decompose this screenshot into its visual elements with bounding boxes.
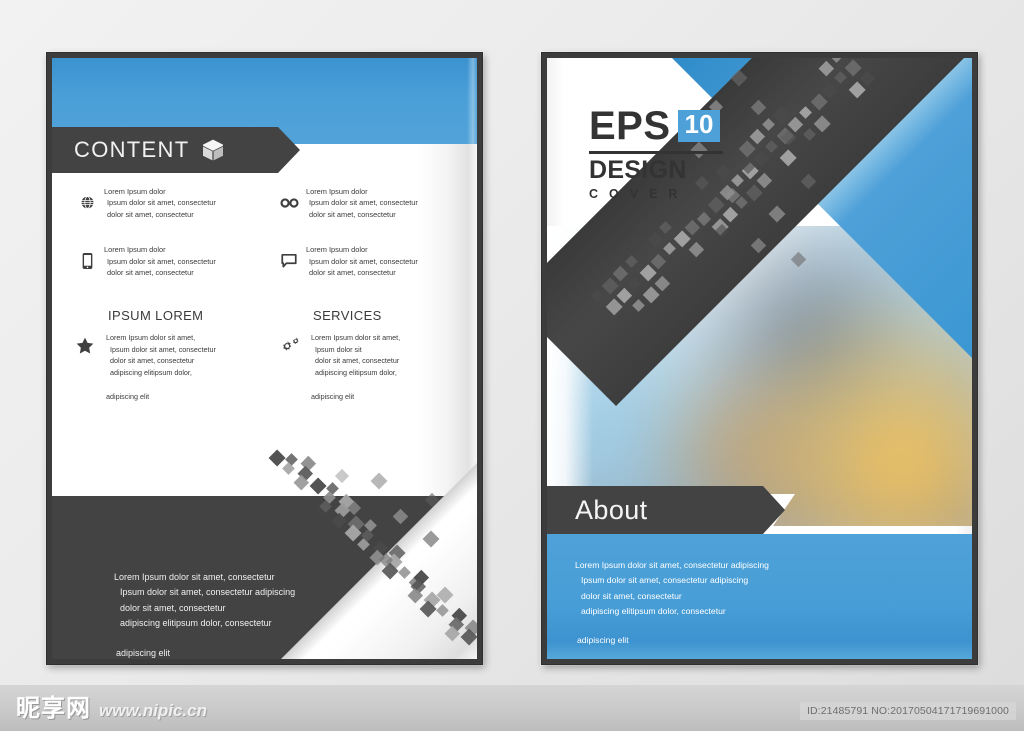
watermark-logo: 昵享网 www.nipic.cn	[16, 688, 207, 723]
section-line: dolor sit amet, consectetur	[110, 355, 216, 367]
footer-tail: adipiscing elit	[577, 633, 881, 648]
feature-text: Lorem Ipsum dolor Ipsum dolor sit amet, …	[107, 186, 216, 220]
section-block: IPSUM LOREM Lorem Ipsum dolor sit amet, …	[70, 308, 269, 402]
brochure-page-right: EPS 10 DESIGN COVER About Lorem Ipsum do…	[541, 52, 978, 665]
feature-line: dolor sit amet, consectetur	[309, 209, 418, 220]
feature-line: Lorem Ipsum dolor	[306, 244, 418, 255]
infinity-icon	[278, 186, 300, 212]
content-title: CONTENT	[74, 137, 189, 163]
watermark-site-url: www.nipic.cn	[99, 701, 207, 721]
right-footer-text: Lorem Ipsum dolor sit amet, consectetur …	[581, 558, 881, 648]
feature-text: Lorem Ipsum dolor Ipsum dolor sit amet, …	[107, 244, 216, 278]
feature-line: dolor sit amet, consectetur	[107, 209, 216, 220]
section-tail: adipiscing elit	[311, 391, 400, 403]
design-canvas: CONTENT	[0, 0, 1024, 731]
section-line: Ipsum dolor sit amet, consectetur	[110, 344, 216, 356]
cube-icon	[201, 138, 225, 162]
section-line: Lorem Ipsum dolor sit amet,	[106, 332, 216, 344]
feature-item: Lorem Ipsum dolor Ipsum dolor sit amet, …	[76, 186, 268, 220]
footer-line: Ipsum dolor sit amet, consectetur adipis…	[581, 573, 881, 588]
about-header-ribbon: About	[547, 486, 785, 534]
eps-logo: EPS 10 DESIGN COVER	[589, 106, 723, 201]
feature-item: Lorem Ipsum dolor Ipsum dolor sit amet, …	[278, 244, 470, 278]
eps-logo-text: EPS	[589, 106, 671, 146]
feature-grid: Lorem Ipsum dolor Ipsum dolor sit amet, …	[76, 186, 470, 279]
eps-logo-rule	[589, 151, 723, 154]
footer-line: adipiscing elitipsum dolor, consectetur	[581, 604, 881, 619]
feature-line: Lorem Ipsum dolor	[104, 244, 216, 255]
footer-line: Lorem Ipsum dolor sit amet, consectetur …	[575, 558, 881, 573]
section-title: SERVICES	[313, 308, 400, 323]
eps-version-badge: 10	[678, 110, 721, 141]
eps-design-text: DESIGN	[589, 157, 723, 183]
section-title: IPSUM LOREM	[108, 308, 216, 323]
section-tail: adipiscing elit	[106, 391, 216, 403]
feature-line: Ipsum dolor sit amet, consectetur	[107, 197, 216, 208]
footer-line: dolor sit amet, consectetur	[581, 589, 881, 604]
feature-line: Ipsum dolor sit amet, consectetur	[309, 256, 418, 267]
section-text: Lorem Ipsum dolor sit amet, Ipsum dolor …	[315, 332, 400, 402]
eps-cover-text: COVER	[589, 187, 723, 201]
about-title: About	[575, 495, 648, 526]
feature-item: Lorem Ipsum dolor Ipsum dolor sit amet, …	[278, 186, 470, 220]
section-line: Ipsum dolor sit	[315, 344, 400, 356]
section-line: adipiscing elitipsum dolor,	[110, 367, 216, 379]
section-block-grid: IPSUM LOREM Lorem Ipsum dolor sit amet, …	[70, 308, 474, 402]
mobile-phone-icon	[76, 244, 98, 270]
feature-line: Lorem Ipsum dolor	[104, 186, 216, 197]
feature-line: Ipsum dolor sit amet, consectetur	[309, 197, 418, 208]
star-icon	[70, 308, 100, 402]
feature-item: Lorem Ipsum dolor Ipsum dolor sit amet, …	[76, 244, 268, 278]
watermark-site-name-cn: 昵享网	[16, 688, 91, 723]
left-page-content: CONTENT	[52, 58, 477, 659]
feature-text: Lorem Ipsum dolor Ipsum dolor sit amet, …	[309, 244, 418, 278]
brochure-page-left: CONTENT	[46, 52, 483, 665]
section-text: Lorem Ipsum dolor sit amet, Ipsum dolor …	[110, 332, 216, 402]
watermark-id-label: ID:21485791 NO:20170504171719691000	[800, 702, 1016, 720]
feature-line: dolor sit amet, consectetur	[309, 267, 418, 278]
section-line: Lorem Ipsum dolor sit amet,	[311, 332, 400, 344]
content-header-ribbon: CONTENT	[52, 127, 300, 173]
feature-line: Ipsum dolor sit amet, consectetur	[107, 256, 216, 267]
section-line: dolor sit amet, consectetur	[315, 355, 400, 367]
speech-bubble-icon	[278, 244, 300, 270]
globe-icon	[76, 186, 98, 212]
section-block: SERVICES Lorem Ipsum dolor sit amet, Ips…	[275, 308, 474, 402]
watermark-bar: 昵享网 www.nipic.cn ID:21485791 NO:20170504…	[0, 685, 1024, 731]
feature-line: Lorem Ipsum dolor	[306, 186, 418, 197]
gears-icon	[275, 308, 305, 402]
section-line: adipiscing elitipsum dolor,	[315, 367, 400, 379]
right-page-content: EPS 10 DESIGN COVER About Lorem Ipsum do…	[547, 58, 972, 659]
feature-line: dolor sit amet, consectetur	[107, 267, 216, 278]
footer-line: Lorem Ipsum dolor sit amet, consectetur	[114, 570, 390, 585]
feature-text: Lorem Ipsum dolor Ipsum dolor sit amet, …	[309, 186, 418, 220]
